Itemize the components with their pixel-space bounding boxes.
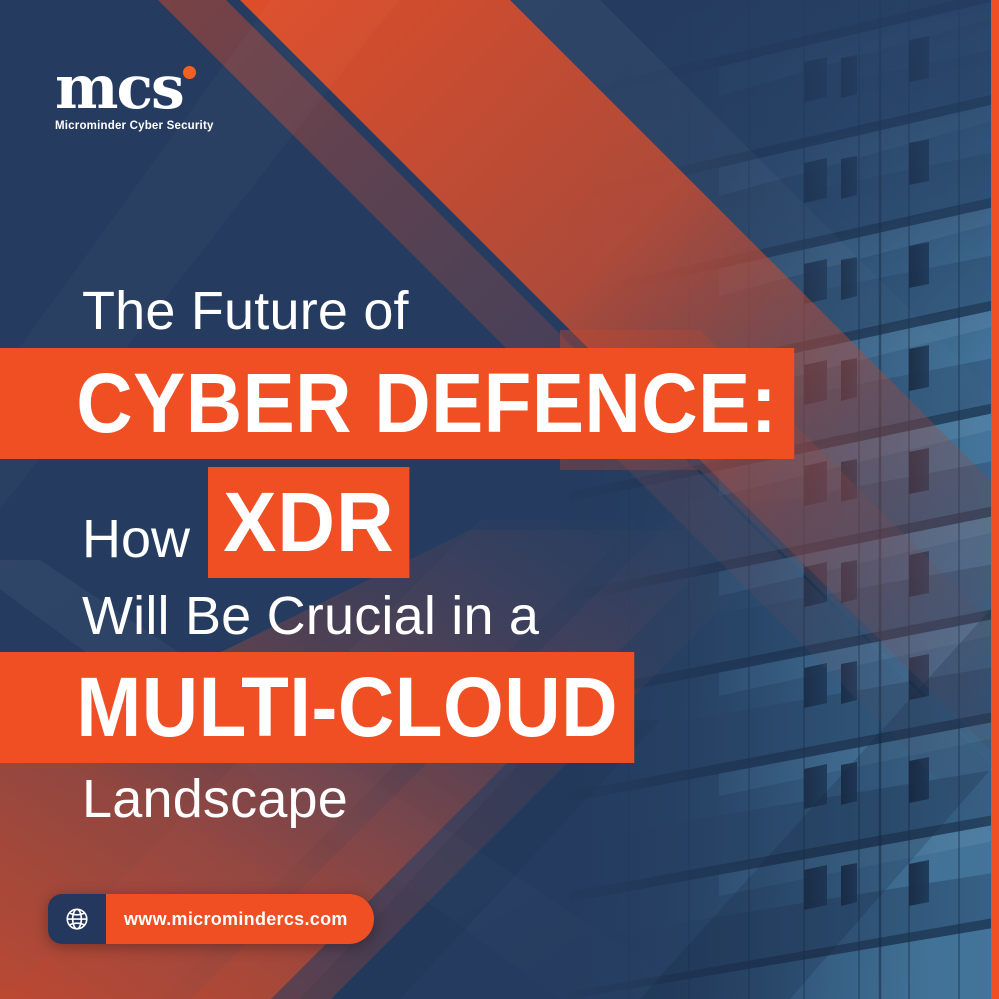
dot-icon — [183, 66, 196, 79]
globe-icon — [48, 894, 106, 944]
headline-line-1: The Future of — [0, 283, 760, 339]
headline-line-6-row: Landscape — [0, 771, 760, 827]
logo-wordmark: mcs — [55, 60, 183, 117]
headline-line-5-row: MULTI-CLOUD — [0, 652, 760, 763]
social-media-poster: mcs Microminder Cyber Security The Futur… — [0, 0, 999, 999]
headline-block: The Future of CYBER DEFENCE: How XDR Wil… — [0, 283, 760, 827]
website-url-badge[interactable]: www.micromindercs.com — [48, 894, 374, 944]
headline-line-4: Will Be Crucial in a — [0, 588, 760, 644]
website-url-text[interactable]: www.micromindercs.com — [106, 894, 374, 944]
headline-line-1-row: The Future of — [0, 283, 760, 339]
headline-line-4-row: Will Be Crucial in a — [0, 588, 760, 644]
right-edge-accent-bar — [991, 0, 999, 999]
headline-line-5-highlight: MULTI-CLOUD — [0, 652, 635, 763]
headline-line-3-highlight: XDR — [208, 467, 410, 578]
logo-wordmark-text: mcs — [55, 53, 183, 123]
headline-line-2-row: CYBER DEFENCE: — [0, 348, 760, 459]
headline-line-2-highlight: CYBER DEFENCE: — [0, 348, 794, 459]
brand-logo[interactable]: mcs Microminder Cyber Security — [55, 60, 285, 132]
headline-line-6: Landscape — [0, 771, 760, 827]
headline-line-3-lead: How — [82, 511, 190, 578]
headline-line-3-row: How XDR — [0, 467, 760, 578]
